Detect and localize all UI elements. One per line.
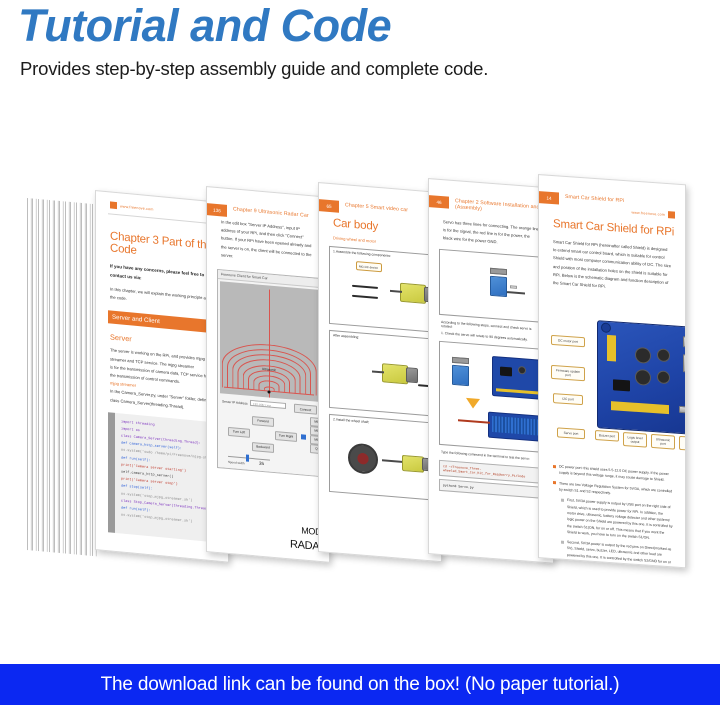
mount-hole-icon [601, 323, 611, 334]
chapter-tag: 46 [429, 195, 449, 209]
sub-bullet-item: Second, 5V/3A power is output by the red… [553, 538, 673, 568]
motor-body [400, 283, 426, 304]
intro-line-3: Smart Car Shield for RPi. [560, 280, 606, 288]
panel-caption: 2.Install the wheel shaft: [330, 415, 432, 429]
capacitor-icon [657, 348, 670, 362]
turn-right-button[interactable]: Turn Right [275, 431, 297, 442]
assembly-panel-2: After assembling: [329, 330, 433, 417]
capacitor-icon [635, 347, 651, 364]
arrow-down-icon [466, 397, 480, 408]
body-paragraph: In the edit box "Server IP Address", inp… [207, 210, 329, 269]
turn-left-button[interactable]: Turn Left [228, 427, 250, 438]
callout-buzzer-port: Buzzer port [595, 430, 619, 442]
stack-page-edge [76, 202, 81, 554]
servo-cable [458, 419, 490, 423]
wheel-part [348, 442, 378, 474]
shield-intro: Smart Car Shield for RPi (hereinafter ca… [539, 229, 685, 296]
sub-bullet-text: First, 5V/3A power supply is output by U… [567, 497, 673, 542]
callout-i2c-port: I2C port [553, 393, 583, 405]
mode-indicator[interactable] [301, 434, 306, 439]
motor-shaft [372, 370, 384, 373]
speed-slider-knob[interactable] [246, 454, 249, 461]
document-page-servo[interactable]: 46 Chapter 2 Software Installation and T… [428, 178, 554, 564]
motor-body [382, 363, 408, 384]
banner-text: The download link can be found on the bo… [101, 674, 620, 696]
callout-ultrasonic-port: Ultrasonic port [651, 434, 675, 450]
control-area[interactable]: Server IP Address 192.168.1.xxx Connect … [218, 395, 320, 476]
callout-firmware-update-port: Firmware update port [551, 365, 585, 381]
logo-square-icon [668, 211, 675, 218]
shield-diagram: DC motor port Firmware update port I2C p… [551, 301, 675, 460]
tutorial-and-code-slide: Tutorial and Code Provides step-by-step … [0, 0, 720, 705]
command-path: cd ~/Freenove_Three-wheeled_Smart_Car_Ki… [443, 464, 541, 480]
radar-origin-dot [268, 390, 271, 393]
panel-caption: After assembling: [330, 331, 432, 345]
document-page-radar[interactable]: 136 Chapter 9 Ultrasonic Radar Car In th… [206, 186, 330, 563]
slider-label: Speed width [228, 460, 245, 465]
forward-button[interactable]: Forward [252, 416, 274, 427]
backward-button[interactable]: Backward [252, 442, 274, 453]
sub-bullet-item: First, 5V/3A power supply is output by U… [553, 496, 673, 542]
shield-bullet-list: DC power port: this shield uses 5.5-12.0… [539, 450, 685, 568]
download-banner: The download link can be found on the bo… [0, 664, 720, 705]
chapter-tag: 136 [207, 203, 227, 217]
callout-servo-port: Servo port [557, 427, 585, 439]
code-lines: import threadingimport osclass Camera_Se… [121, 419, 213, 528]
header: Tutorial and Code Provides step-by-step … [0, 0, 720, 80]
bullet-square-icon [553, 465, 556, 468]
stack-page-edge [54, 200, 59, 552]
usb-port-icon [683, 354, 686, 373]
servo-photo-panel [439, 248, 545, 322]
stack-page-edge [38, 199, 43, 551]
screw-icon [352, 295, 378, 299]
page-title: Tutorial and Code [0, 0, 720, 49]
stack-page-edge [43, 199, 48, 551]
servo-gear-housing [490, 267, 507, 274]
assembly-panel-1: 1.Assemble the following components: MG-… [329, 246, 433, 333]
chip-icon [500, 366, 512, 376]
stack-page-edge [86, 203, 91, 555]
servo-body [490, 275, 507, 296]
command-line: python3 Servo.py [443, 483, 541, 495]
motor-gearbox [406, 367, 418, 383]
connect-button[interactable]: Connect [294, 404, 317, 415]
screw-icon [352, 285, 378, 289]
document-fan: www.freenove.com Chapter 3 Part of the C… [0, 150, 720, 580]
chapter-tag: 14 [539, 191, 559, 204]
stack-page-edge [81, 203, 86, 555]
servo-horn [510, 285, 517, 289]
capacitor-icon [635, 369, 651, 386]
document-page-carbody[interactable]: 65 Chapter 5 Smart video car Car body Dr… [318, 182, 442, 562]
page-subtitle: Provides step-by-step assembly guide and… [0, 49, 720, 80]
callout-dc-motor-port: DC motor port [551, 335, 585, 347]
stack-page-edge [27, 198, 32, 550]
motor-shaft [390, 290, 402, 293]
address-label: Server IP Address [222, 399, 248, 405]
logo-square-icon [110, 201, 117, 209]
capacitor-icon [518, 365, 526, 374]
servo-body [452, 364, 469, 385]
radar-display[interactable]: Ultrasonic [220, 281, 318, 402]
code-block[interactable]: import threadingimport osclass Camera_Se… [108, 412, 218, 542]
panel-caption: 1.Assemble the following components: [330, 247, 432, 261]
dc-motor-header [607, 335, 616, 362]
component-callout: MG-DC device [356, 261, 382, 272]
body-line-2: mjpg streamer [110, 381, 136, 388]
callout-logic-level-output: Logic level output [623, 432, 647, 448]
sub-bullet-icon [561, 540, 564, 543]
client-window[interactable]: Freenove Client for Smart Car Ultrasonic… [217, 269, 321, 477]
page-stack [27, 198, 99, 557]
chapter-tag: 65 [319, 199, 339, 213]
address-input[interactable]: 192.168.1.xxx [250, 400, 286, 409]
stack-page-edge [49, 200, 54, 552]
assembly-panel-3: 2.Install the wheel shaft: [329, 414, 433, 501]
motor-body [402, 455, 424, 473]
capacitor-icon [657, 370, 670, 384]
stack-page-edge [65, 201, 70, 553]
chip-icon [613, 379, 630, 391]
board-photo-panel [439, 340, 545, 452]
document-page-shield[interactable]: 14 Smart Car Shield for RPi www.freenove… [538, 174, 686, 568]
bullet-square-icon [553, 481, 556, 484]
serial-port-icon [683, 336, 686, 348]
stack-page-edge [70, 202, 75, 554]
callout-power-indicator: Power indicator [679, 436, 686, 452]
servo-gear-housing [452, 356, 469, 363]
sub-bullet-icon [561, 498, 564, 501]
stack-page-edge [32, 198, 37, 550]
brand-label: www.freenove.com [120, 204, 154, 211]
sub-bullet-text: Second, 5V/3A power is output by the red… [567, 539, 673, 568]
wheel-shaft [382, 459, 402, 463]
servo-cable [507, 291, 525, 294]
slider-value: 35 [259, 461, 264, 466]
stack-page-edge [59, 201, 64, 553]
